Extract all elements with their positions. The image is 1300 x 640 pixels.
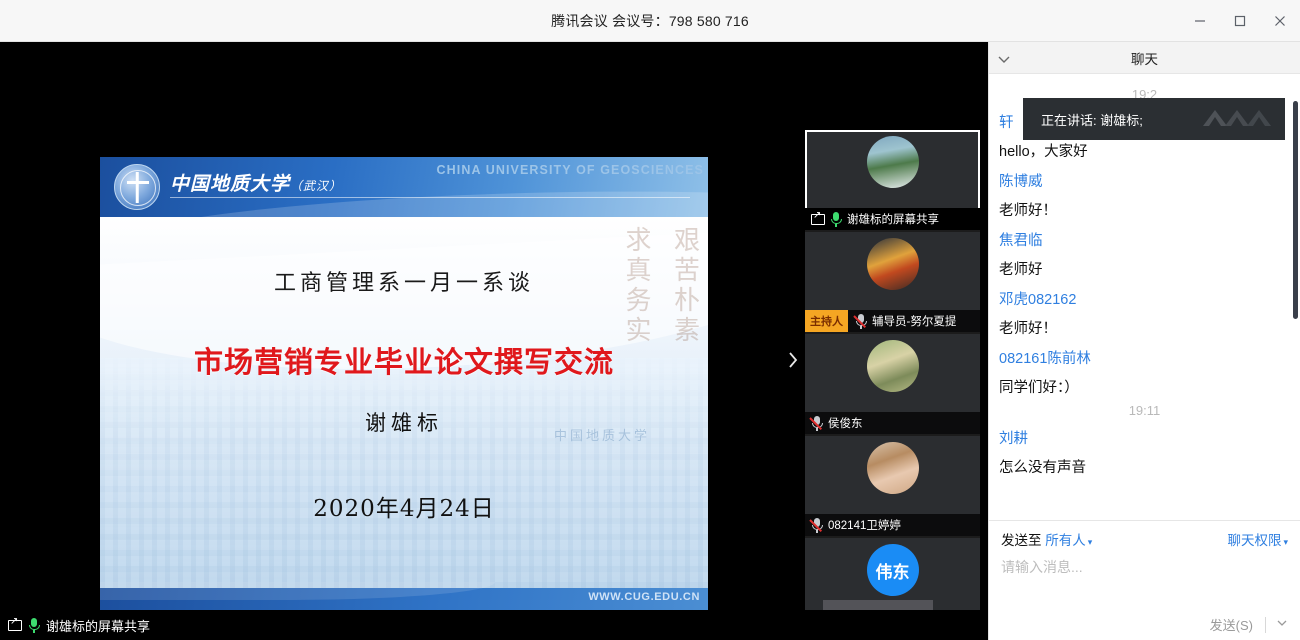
participant-tile[interactable]: 主持人 辅导员-努尔夏提 [805,232,980,332]
send-to-value: 所有人 [1045,533,1086,548]
shared-screen-stage[interactable]: 中国地质大学（武汉） CHINA UNIVERSITY OF GEOSCIENC… [0,42,988,640]
chat-sender[interactable]: 刘耕 [999,427,1290,448]
screen-share-icon [8,620,22,631]
chat-message: 怎么没有声音 [999,456,1290,477]
chat-message: 老师好 [999,258,1290,279]
participant-name: 侯俊东 [828,415,863,431]
screen-share-status-bar: 谢雄标的屏幕共享 [0,610,988,640]
slide-header-band: 中国地质大学（武汉） CHINA UNIVERSITY OF GEOSCIENC… [100,157,708,217]
screen-share-icon [811,214,825,225]
chevron-down-icon[interactable] [997,51,1011,69]
chat-permission-button[interactable]: 聊天权限▾ [1227,529,1288,549]
avatar [867,238,919,290]
app-watermark-icon [1199,106,1273,132]
participant-label-bar: 谢雄标的屏幕共享 [805,208,980,230]
presentation-slide: 中国地质大学（武汉） CHINA UNIVERSITY OF GEOSCIENC… [100,157,708,610]
chat-sender[interactable]: 焦君临 [999,229,1290,250]
chat-message: 老师好！ [999,199,1290,220]
participant-tile[interactable]: 侯俊东 [805,334,980,434]
share-status-text: 谢雄标的屏幕共享 [46,616,150,635]
chat-scrollbar[interactable] [1293,101,1298,319]
campus-photo-backdrop [100,358,708,588]
chat-sender[interactable]: 082161陈前林 [999,347,1290,368]
avatar [867,340,919,392]
participant-tile[interactable]: 082141卫婷婷 [805,436,980,536]
chat-panel-title: 聊天 [1131,48,1158,68]
participant-thumbnail-strip[interactable]: 谢雄标的屏幕共享 主持人 辅导员-努尔夏提 侯俊东 [805,130,980,630]
compose-toolbar: 发送至 所有人▾ 聊天权限▾ [989,521,1300,553]
participant-name: 082141卫婷婷 [828,517,901,533]
avatar: 伟东 [867,544,919,596]
speaking-now-tooltip: 正在讲话: 谢雄标; [1023,98,1285,140]
chat-message: 同学们好：） [999,376,1290,397]
compose-actions: 发送(S) [1202,613,1294,636]
chevron-down-icon: ▾ [1283,537,1288,547]
chevron-right-icon[interactable] [782,338,804,382]
title-bar: 腾讯会议 会议号：798 580 716 [0,0,1300,42]
slide-body: 求 艰 真 苦 务 朴 实 素 中国地质大学 工商管理系一月一系谈 市场营销专业… [100,217,708,588]
divider [1265,617,1266,633]
maximize-icon[interactable] [1220,0,1260,42]
slide-footer-band: WWW.CUG.EDU.CN [100,588,708,610]
mic-muted-icon [855,314,867,329]
mic-muted-icon [811,416,823,431]
send-options-chevron-icon[interactable] [1270,619,1294,630]
header-rule [170,197,690,198]
mic-on-icon [830,212,842,227]
close-icon[interactable] [1260,0,1300,42]
window-controls [1180,0,1300,42]
slide-subtitle: 工商管理系一月一系谈 [100,265,708,297]
window-title: 腾讯会议 会议号：798 580 716 [551,11,749,31]
participant-tile[interactable]: 谢雄标的屏幕共享 [805,130,980,230]
chat-compose-area: 发送至 所有人▾ 聊天权限▾ 请输入消息... 发送(S) [989,520,1300,640]
slide-author: 谢雄标 [100,407,708,437]
chat-message: 老师好！ [999,317,1290,338]
chat-panel-header: 聊天 [989,42,1300,74]
slide-title: 市场营销专业毕业论文撰写交流 [100,339,708,381]
participant-label-bar: 082141卫婷婷 [805,514,980,536]
slide-date: 2020年4月24日 [100,489,708,523]
participant-name: 谢雄标的屏幕共享 [847,211,939,227]
slide-url: WWW.CUG.EDU.CN [588,591,700,603]
participant-label-bar: 侯俊东 [805,412,980,434]
avatar [867,442,919,494]
avatar [867,136,919,188]
meeting-window: 腾讯会议 会议号：798 580 716 中国地质大学（武汉） CHINA UN… [0,0,1300,640]
university-name-cn: 中国地质大学（武汉） [170,169,342,196]
chat-sender[interactable]: 陈博威 [999,170,1290,191]
participant-label-bar: 主持人 辅导员-努尔夏提 [805,310,980,332]
send-to-label: 发送至 [1001,533,1042,548]
send-button[interactable]: 发送(S) [1202,613,1261,636]
chat-message: hello，大家好 [999,140,1290,161]
chat-sender[interactable]: 邓虎082162 [999,288,1290,309]
chevron-down-icon: ▾ [1088,537,1093,547]
speaking-now-text: 正在讲话: 谢雄标; [1041,110,1143,129]
chat-permission-label: 聊天权限 [1227,533,1281,548]
chat-panel: 聊天 19:2 轩 hello，大家好 陈博威 老师好！ 焦君临 老师好 邓虎0… [988,42,1300,640]
university-logo-icon [114,164,160,210]
mic-on-icon [28,618,40,633]
chat-message-list[interactable]: 19:2 轩 hello，大家好 陈博威 老师好！ 焦君临 老师好 邓虎0821… [989,75,1300,520]
host-badge: 主持人 [805,310,848,332]
minimize-icon[interactable] [1180,0,1220,42]
university-name-en: CHINA UNIVERSITY OF GEOSCIENCES [437,163,704,177]
mic-muted-icon [811,518,823,533]
chat-timestamp: 19:11 [999,403,1290,418]
participant-name: 辅导员-努尔夏提 [872,313,956,329]
send-to-selector[interactable]: 发送至 所有人▾ [1001,529,1092,549]
